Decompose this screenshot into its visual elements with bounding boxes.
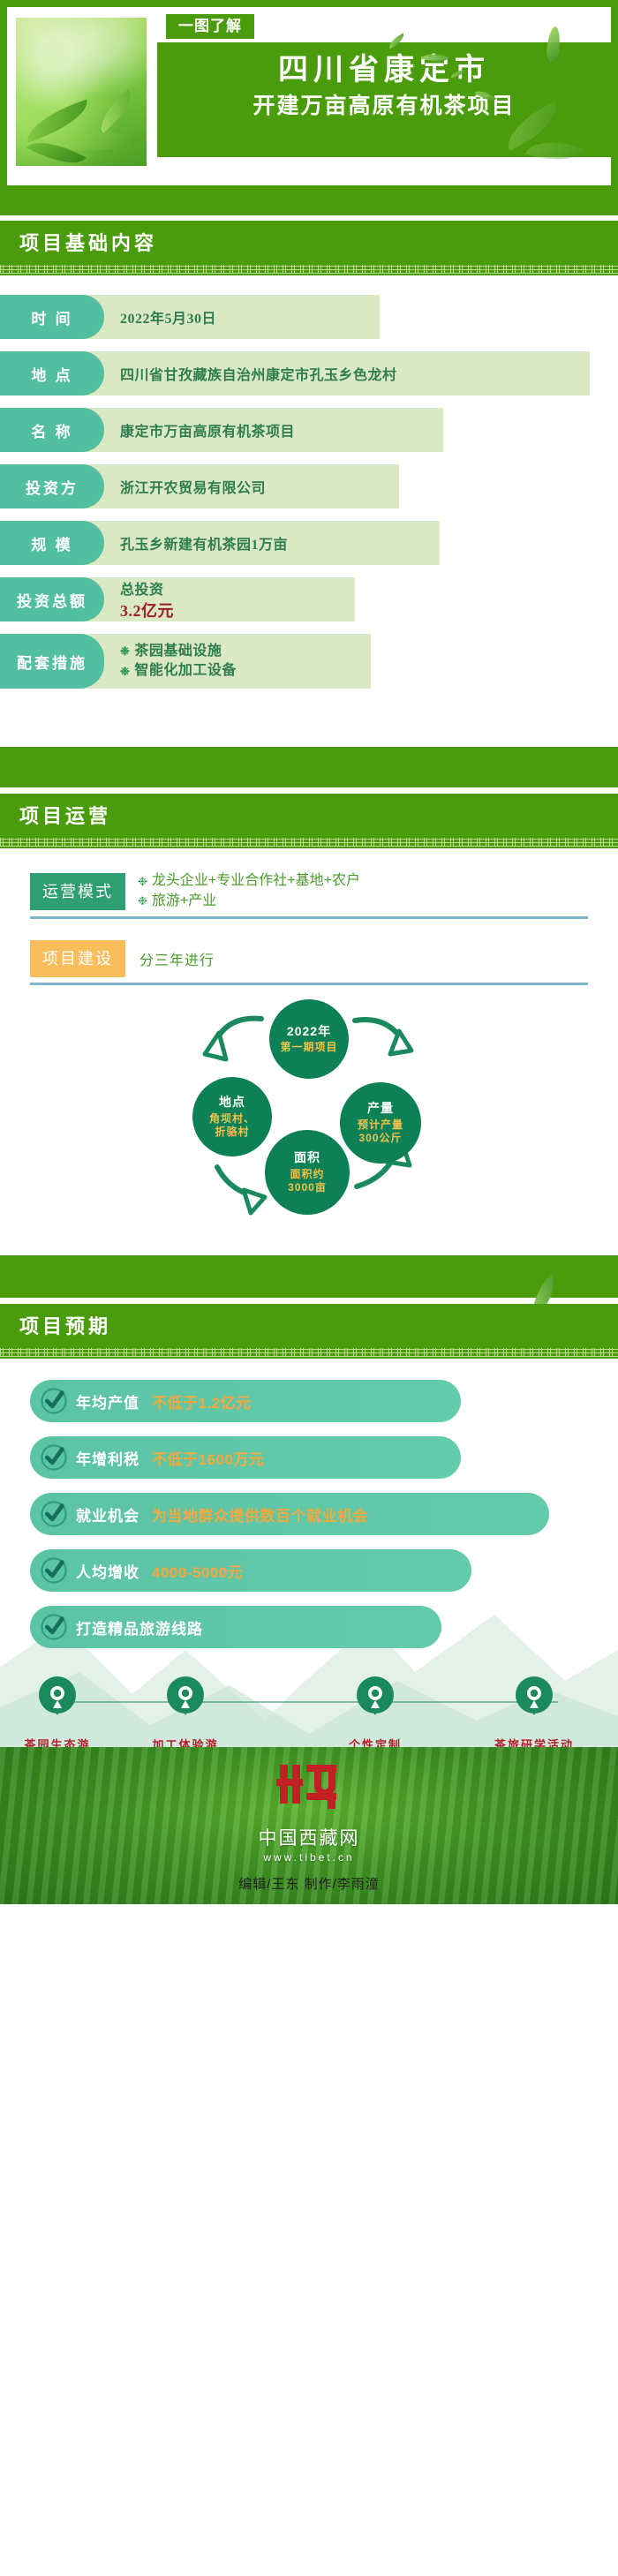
infographic-page: 一图了解 四川省康定市 开建万亩高原有机茶项目 项目基础内容 时 间 2022年… (0, 0, 618, 2576)
site-footer: 中国西藏网 www.tibet.cn 编辑/王东 制作/李雨潼 (0, 1747, 618, 1904)
map-pin-icon (167, 1676, 204, 1726)
row-label: 配套措施 (0, 634, 104, 689)
list-item: ❉ 茶园基础设施 (120, 642, 237, 661)
section-title: 项目运营 (19, 806, 618, 827)
expect-label: 年均产值 (76, 1390, 139, 1412)
hero-inner: 一图了解 四川省康定市 开建万亩高原有机茶项目 (7, 7, 611, 185)
flower-bullet-icon: ❉ (138, 876, 147, 887)
title-block: 四川省康定市 开建万亩高原有机茶项目 (157, 42, 611, 157)
row-value: 四川省甘孜藏族自治州康定市孔玉乡色龙村 (104, 351, 397, 395)
flower-bullet-icon: ❉ (120, 645, 130, 657)
one-image-badge: 一图了解 (166, 14, 254, 39)
cycle-node-area: 面积 面积约 3000亩 (265, 1130, 350, 1215)
row-label: 名 称 (0, 408, 104, 452)
map-pin-icon (357, 1676, 394, 1726)
greek-key-band-operate (0, 836, 618, 848)
cycle-node-location: 地点 角坝村、 折骆村 (192, 1077, 272, 1156)
node-subtitle: 第一期项目 (280, 1041, 337, 1054)
flower-bullet-icon: ❉ (138, 895, 147, 907)
list-item: 年均产值 不低于1.2亿元 (30, 1380, 461, 1422)
tibet-logo-icon (275, 1761, 343, 1816)
table-row: 名 称 康定市万亩高原有机茶项目 (0, 408, 618, 452)
route-label: 茶旅研学活动 (472, 1736, 596, 1747)
operation-mode-list: ❉ 龙头企业+专业合作社+基地+农户 ❉ 旅游+产业 (125, 871, 360, 911)
tourism-route: 茶园生态游 加工体验游 (0, 1671, 618, 1747)
node-title: 地点 (219, 1095, 245, 1111)
tea-leaf-photo (16, 18, 147, 166)
node-subtitle-line: 预计产量 (358, 1119, 403, 1132)
check-circle-icon (39, 1386, 69, 1416)
list-item: 人均增收 4000-5000元 (30, 1549, 471, 1592)
row-label: 投资总额 (0, 577, 104, 621)
expect-content: 年均产值 不低于1.2亿元 年增利税 不低于1600万元 就业机会 为当地群众提… (0, 1359, 618, 1747)
row-label: 规 模 (0, 521, 104, 565)
bullet-text: 旅游+产业 (152, 892, 216, 911)
footer-inner: 中国西藏网 www.tibet.cn 编辑/王东 制作/李雨潼 (0, 1747, 618, 1893)
row-value: 孔玉乡新建有机茶园1万亩 (104, 521, 288, 565)
credits-text: 编辑/王东 制作/李雨潼 (0, 1874, 618, 1893)
row-label: 投资方 (0, 464, 104, 508)
route-label: 茶园生态游 (0, 1736, 119, 1747)
expect-label: 就业机会 (76, 1503, 139, 1525)
page-title: 四川省康定市 (171, 49, 597, 89)
table-row: 投资总额 总投资3.2亿元 (0, 577, 618, 621)
row-value: 2022年5月30日 (104, 295, 216, 339)
route-stop: 茶园生态游 (0, 1676, 119, 1747)
separator-white (0, 1241, 618, 1255)
hero-banner: 一图了解 四川省康定市 开建万亩高原有机茶项目 (0, 0, 618, 192)
list-item: 就业机会 为当地群众提供数百个就业机会 (30, 1493, 549, 1535)
bullet-text: 龙头企业+专业合作社+基地+农户 (152, 871, 360, 891)
cycle-node-output: 产量 预计产量 300公斤 (340, 1082, 421, 1164)
operate-content: 运营模式 ❉ 龙头企业+专业合作社+基地+农户 ❉ 旅游+产业 项目建设 分三年… (0, 848, 618, 1241)
table-row: 投资方 浙江开农贸易有限公司 (0, 464, 618, 508)
check-circle-icon (39, 1499, 69, 1529)
basics-rows: 时 间 2022年5月30日 地 点 四川省甘孜藏族自治州康定市孔玉乡色龙村 名… (0, 275, 618, 708)
section-header-operate: 项目运营 (0, 794, 618, 836)
expect-value: 不低于1600万元 (152, 1447, 264, 1469)
divider-rule (30, 916, 588, 919)
divider-rule (30, 983, 588, 985)
project-cycle-diagram: 2022年 第一期项目 产量 预计产量 300公斤 面积 面积约 3000亩 地… (0, 998, 618, 1236)
map-pin-icon (516, 1676, 553, 1726)
table-row: 配套措施 ❉ 茶园基础设施 ❉ 智能化加工设备 (0, 634, 618, 689)
node-subtitle-line: 角坝村、 (209, 1112, 255, 1126)
list-item: ❉ 智能化加工设备 (120, 661, 237, 681)
row-value-accent: 3.2亿元 (120, 599, 174, 621)
route-stop: 加工体验游 (124, 1676, 247, 1747)
section-title: 项目基础内容 (19, 233, 618, 254)
expect-label: 打造精品旅游线路 (76, 1616, 203, 1638)
list-item: ❉ 旅游+产业 (138, 892, 360, 911)
section-header-basics: 项目基础内容 (0, 221, 618, 263)
row-label: 时 间 (0, 295, 104, 339)
check-circle-icon (39, 1612, 69, 1642)
site-url: www.tibet.cn (0, 1851, 618, 1864)
check-circle-icon (39, 1442, 69, 1473)
table-row: 规 模 孔玉乡新建有机茶园1万亩 (0, 521, 618, 565)
section-header-expect: 项目预期 (0, 1304, 618, 1346)
route-label: 加工体验游 (124, 1736, 247, 1747)
project-build-block: 项目建设 分三年进行 (0, 940, 618, 977)
separator-green (0, 747, 618, 787)
expect-value: 4000-5000元 (152, 1560, 243, 1582)
node-subtitle-line: 300公斤 (358, 1132, 402, 1145)
list-item: ❉ 龙头企业+专业合作社+基地+农户 (138, 871, 360, 891)
node-subtitle-line: 3000亩 (288, 1181, 327, 1194)
section-title: 项目预期 (19, 1316, 618, 1337)
cycle-node-phase: 2022年 第一期项目 (269, 999, 349, 1079)
flower-bullet-icon: ❉ (120, 666, 130, 677)
node-title: 面积 (294, 1150, 320, 1166)
greek-key-band-expect (0, 1346, 618, 1359)
separator-white (0, 708, 618, 747)
expect-label: 年增利税 (76, 1447, 139, 1469)
node-subtitle-line: 折骆村 (215, 1126, 249, 1139)
site-name: 中国西藏网 (0, 1824, 618, 1850)
bullet-text: 智能化加工设备 (134, 661, 237, 681)
operation-mode-block: 运营模式 ❉ 龙头企业+专业合作社+基地+农户 ❉ 旅游+产业 (0, 871, 618, 911)
leaf-shape-icon (92, 89, 139, 133)
table-row: 地 点 四川省甘孜藏族自治州康定市孔玉乡色龙村 (0, 351, 618, 395)
greek-key-band-basics (0, 263, 618, 275)
separator-green (0, 192, 618, 215)
row-value: ❉ 茶园基础设施 ❉ 智能化加工设备 (104, 634, 237, 689)
route-label: 个性定制 (313, 1736, 437, 1747)
expect-label: 人均增收 (76, 1560, 139, 1582)
row-label: 地 点 (0, 351, 104, 395)
node-title: 2022年 (287, 1024, 331, 1040)
row-value: 浙江开农贸易有限公司 (104, 464, 266, 508)
operation-mode-tag: 运营模式 (30, 873, 125, 910)
list-item: 打造精品旅游线路 (30, 1606, 441, 1648)
map-pin-icon (39, 1676, 76, 1726)
table-row: 时 间 2022年5月30日 (0, 295, 618, 339)
route-stop: 个性定制 (313, 1676, 437, 1747)
row-value-prefix: 总投资 (120, 577, 174, 599)
node-title: 产量 (367, 1101, 394, 1117)
check-circle-icon (39, 1555, 69, 1586)
project-build-tag: 项目建设 (30, 940, 125, 977)
node-subtitle-line: 面积约 (290, 1168, 324, 1181)
row-value: 康定市万亩高原有机茶项目 (104, 408, 295, 452)
expect-value: 为当地群众提供数百个就业机会 (152, 1503, 368, 1525)
separator-white (0, 787, 618, 794)
expect-value: 不低于1.2亿元 (152, 1390, 252, 1412)
bullet-text: 茶园基础设施 (134, 642, 222, 661)
project-build-text: 分三年进行 (125, 948, 215, 969)
route-stop: 茶旅研学活动 (472, 1676, 596, 1747)
row-value: 总投资3.2亿元 (104, 577, 174, 621)
list-item: 年增利税 不低于1600万元 (30, 1436, 461, 1479)
